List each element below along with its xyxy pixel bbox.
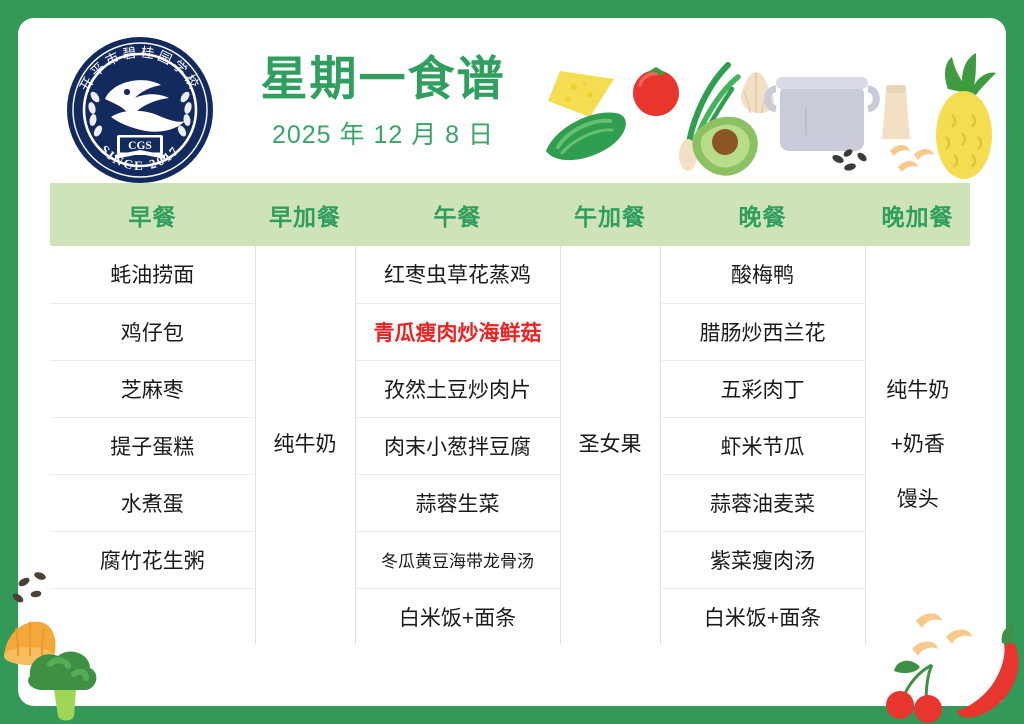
cell-breakfast-3: 芝麻枣 bbox=[50, 360, 255, 417]
cell-breakfast-1: 蚝油捞面 bbox=[50, 246, 255, 303]
table-row: 提子蛋糕 肉末小葱拌豆腐 虾米节瓜 bbox=[50, 417, 970, 474]
cell-dinner-5: 蒜蓉油麦菜 bbox=[660, 474, 865, 531]
poster-card: 开平市碧桂园学校 SINCE 2017 bbox=[18, 18, 1006, 706]
cell-lunch-7: 白米饭+面条 bbox=[355, 588, 560, 645]
cell-breakfast-5: 水煮蛋 bbox=[50, 474, 255, 531]
table-header-row: 早餐 早加餐 午餐 午加餐 晚餐 晚加餐 bbox=[50, 183, 970, 246]
table-row: 蚝油捞面 纯牛奶 红枣虫草花蒸鸡 圣女果 酸梅鸭 纯牛奶 +奶香 馒头 bbox=[50, 246, 970, 303]
salt-shaker-icon bbox=[882, 85, 910, 139]
table-row: 白米饭+面条 白米饭+面条 bbox=[50, 588, 970, 645]
school-logo: 开平市碧桂园学校 SINCE 2017 bbox=[65, 35, 215, 185]
menu-table: 早餐 早加餐 午餐 午加餐 晚餐 晚加餐 蚝油捞面 纯牛奶 红枣虫草花蒸鸡 圣女… bbox=[50, 183, 970, 645]
cell-evening-snack: 纯牛奶 +奶香 馒头 bbox=[865, 246, 970, 645]
column-header-evening-snack: 晚加餐 bbox=[865, 183, 970, 246]
title-block: 星期一食谱 2025 年 12 月 8 日 bbox=[233, 53, 533, 151]
cell-lunch-1: 红枣虫草花蒸鸡 bbox=[355, 246, 560, 303]
evening-snack-line-1: 纯牛奶 bbox=[866, 364, 971, 419]
evening-snack-line-2: +奶香 bbox=[866, 418, 971, 473]
column-header-lunch: 午餐 bbox=[355, 183, 560, 246]
column-header-dinner: 晚餐 bbox=[660, 183, 865, 246]
cell-dinner-6: 紫菜瘦肉汤 bbox=[660, 531, 865, 588]
cell-lunch-5: 蒜蓉生菜 bbox=[355, 474, 560, 531]
cell-afternoon-snack: 圣女果 bbox=[560, 246, 660, 645]
cell-dinner-4: 虾米节瓜 bbox=[660, 417, 865, 474]
cell-breakfast-7 bbox=[50, 588, 255, 645]
cell-dinner-7: 白米饭+面条 bbox=[660, 588, 865, 645]
cell-lunch-6: 冬瓜黄豆海带龙骨汤 bbox=[355, 531, 560, 588]
evening-snack-line-3: 馒头 bbox=[866, 473, 971, 528]
school-logo-icon: 开平市碧桂园学校 SINCE 2017 bbox=[65, 35, 215, 185]
column-header-morning-snack: 早加餐 bbox=[255, 183, 355, 246]
cell-breakfast-6: 腐竹花生粥 bbox=[50, 531, 255, 588]
cooking-pot-icon bbox=[768, 77, 877, 151]
cell-dinner-3: 五彩肉丁 bbox=[660, 360, 865, 417]
cell-breakfast-2: 鸡仔包 bbox=[50, 303, 255, 360]
poster-header: 开平市碧桂园学校 SINCE 2017 bbox=[18, 18, 1006, 183]
cheese-wedge-icon bbox=[548, 71, 614, 117]
menu-date: 2025 年 12 月 8 日 bbox=[233, 115, 533, 151]
column-header-breakfast: 早餐 bbox=[50, 183, 255, 246]
cell-lunch-2: 青瓜瘦肉炒海鲜菇 bbox=[355, 303, 560, 360]
menu-poster: 开平市碧桂园学校 SINCE 2017 bbox=[0, 0, 1024, 724]
column-header-afternoon-snack: 午加餐 bbox=[560, 183, 660, 246]
black-seeds-icon bbox=[831, 148, 868, 172]
cell-breakfast-4: 提子蛋糕 bbox=[50, 417, 255, 474]
cashew-nuts-icon bbox=[890, 145, 934, 172]
cell-lunch-4: 肉末小葱拌豆腐 bbox=[355, 417, 560, 474]
table-row: 腐竹花生粥 冬瓜黄豆海带龙骨汤 紫菜瘦肉汤 bbox=[50, 531, 970, 588]
cell-lunch-3: 孜然土豆炒肉片 bbox=[355, 360, 560, 417]
table-row: 鸡仔包 青瓜瘦肉炒海鲜菇 腊肠炒西兰花 bbox=[50, 303, 970, 360]
food-illustration-strip bbox=[528, 43, 998, 183]
cucumber-icon bbox=[546, 112, 626, 160]
page-title: 星期一食谱 bbox=[233, 53, 533, 106]
cell-morning-snack: 纯牛奶 bbox=[255, 246, 355, 645]
table-row: 芝麻枣 孜然土豆炒肉片 五彩肉丁 bbox=[50, 360, 970, 417]
cell-dinner-2: 腊肠炒西兰花 bbox=[660, 303, 865, 360]
cell-dinner-1: 酸梅鸭 bbox=[660, 246, 865, 303]
tomato-icon bbox=[633, 67, 679, 116]
table-row: 水煮蛋 蒜蓉生菜 蒜蓉油麦菜 bbox=[50, 474, 970, 531]
pineapple-icon bbox=[936, 53, 996, 179]
